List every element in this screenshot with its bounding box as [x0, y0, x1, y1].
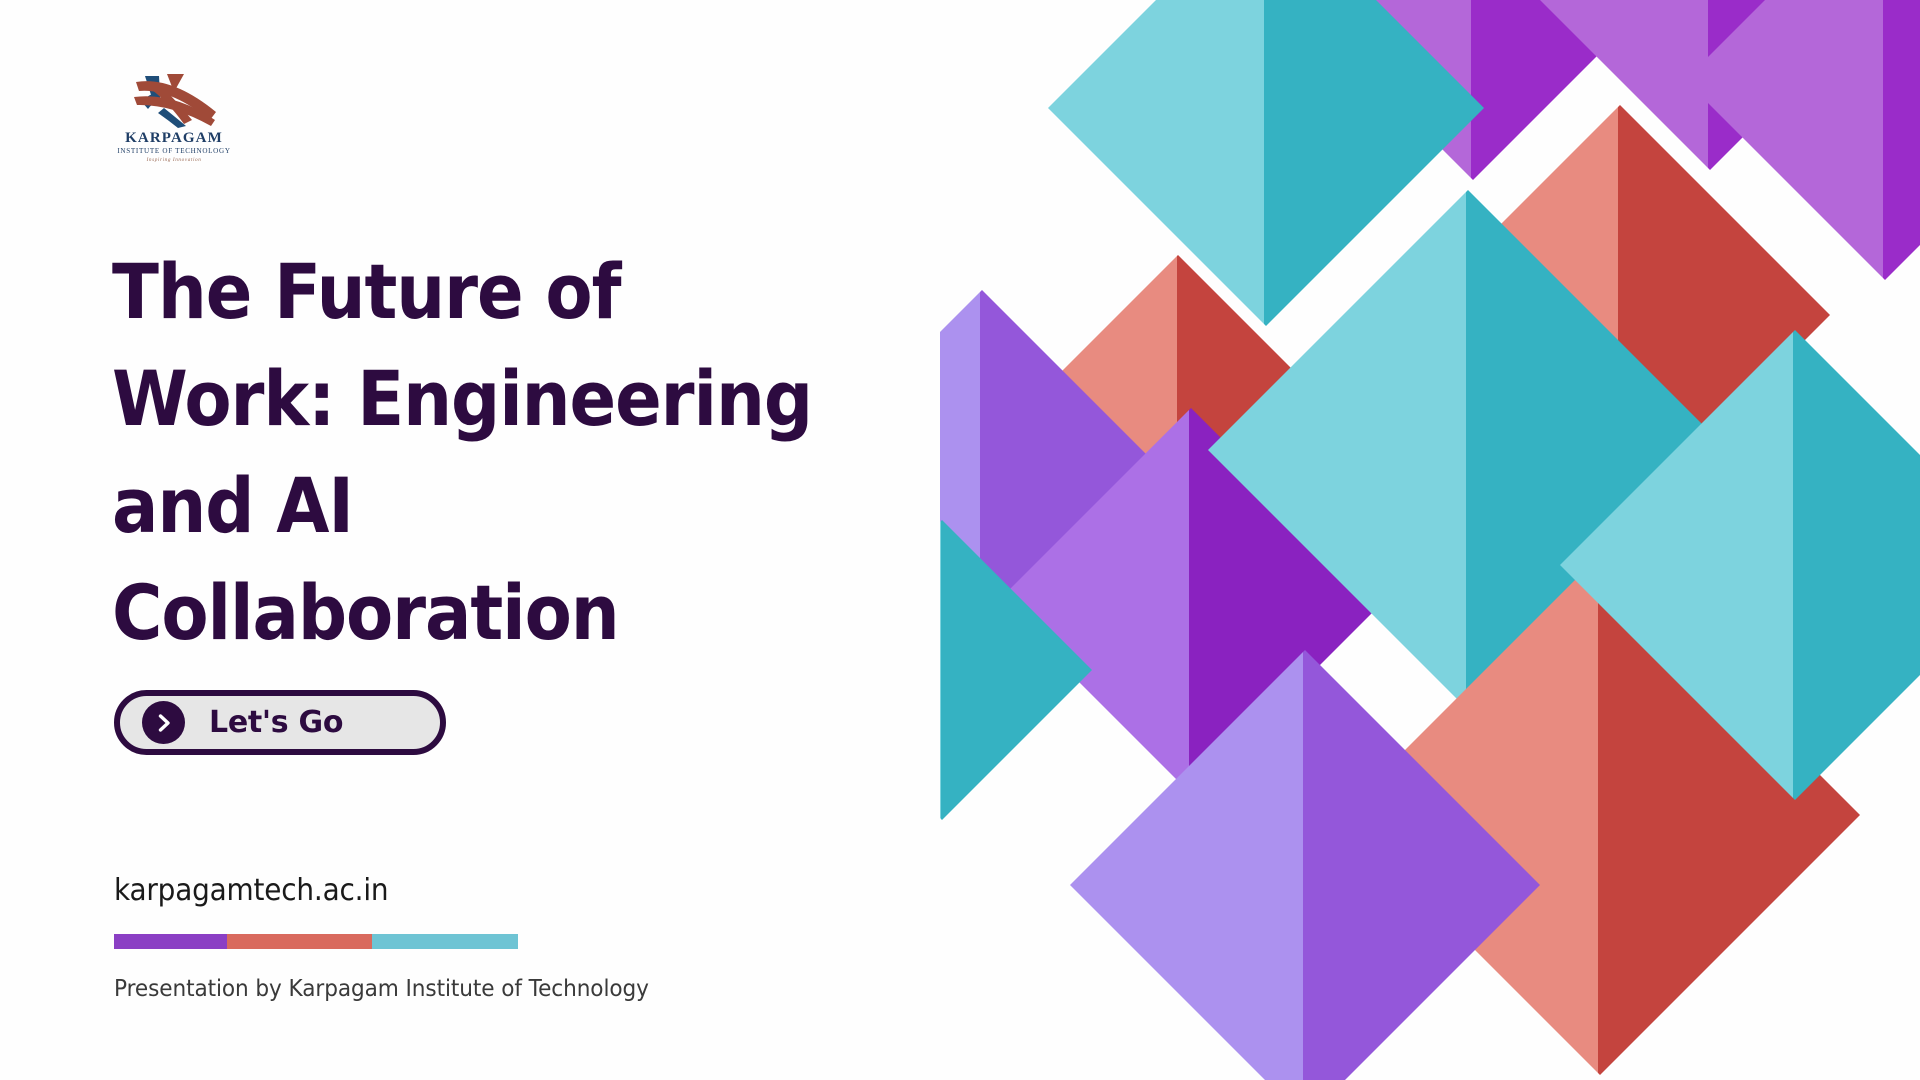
lets-go-button-label: Let's Go — [209, 705, 343, 740]
accent-rule-segment-teal — [372, 934, 518, 949]
pattern-diamond-purple-1 — [1258, 0, 1688, 180]
pattern-diamond-lavender-2 — [1070, 650, 1540, 1080]
presentation-byline: Presentation by Karpagam Institute of Te… — [114, 976, 649, 1002]
lets-go-button[interactable]: Let's Go — [114, 690, 446, 755]
presentation-slide: KARPAGAM INSTITUTE OF TECHNOLOGY Inspiri… — [0, 0, 1920, 1080]
geometric-diamond-pattern — [940, 0, 1920, 1080]
pattern-diamond-teal-2 — [1208, 190, 1728, 710]
chevron-right-circle-icon — [142, 701, 185, 744]
pattern-diamond-teal-4 — [1560, 330, 1920, 800]
accent-rule-segment-purple — [114, 934, 227, 949]
website-url[interactable]: karpagamtech.ac.in — [114, 873, 388, 908]
accent-rule — [114, 934, 518, 949]
slide-content: KARPAGAM INSTITUTE OF TECHNOLOGY Inspiri… — [112, 0, 972, 1080]
karpagam-institute-logo: KARPAGAM INSTITUTE OF TECHNOLOGY Inspiri… — [112, 68, 236, 166]
logo-subtitle: INSTITUTE OF TECHNOLOGY — [112, 148, 236, 155]
pattern-diamond-coral-1 — [1410, 105, 1830, 525]
logo-wordmark: KARPAGAM — [112, 131, 236, 146]
pattern-diamond-purple-2 — [1480, 0, 1920, 170]
pattern-diamond-coral-3 — [1340, 555, 1860, 1075]
pattern-diamond-coral-2 — [1010, 255, 1346, 591]
logo-tagline: Inspiring Innovation — [112, 158, 236, 163]
pattern-diamond-purple-4 — [1685, 0, 1920, 280]
logo-k-mark-icon — [112, 68, 236, 130]
page-title: The Future of Work: Engineering and AI C… — [112, 238, 863, 667]
pattern-diamond-purple-3 — [998, 408, 1384, 794]
pattern-diamond-teal-1 — [1048, 0, 1484, 326]
pattern-diamond-lavender-1 — [940, 290, 1192, 710]
accent-rule-segment-coral — [227, 934, 372, 949]
